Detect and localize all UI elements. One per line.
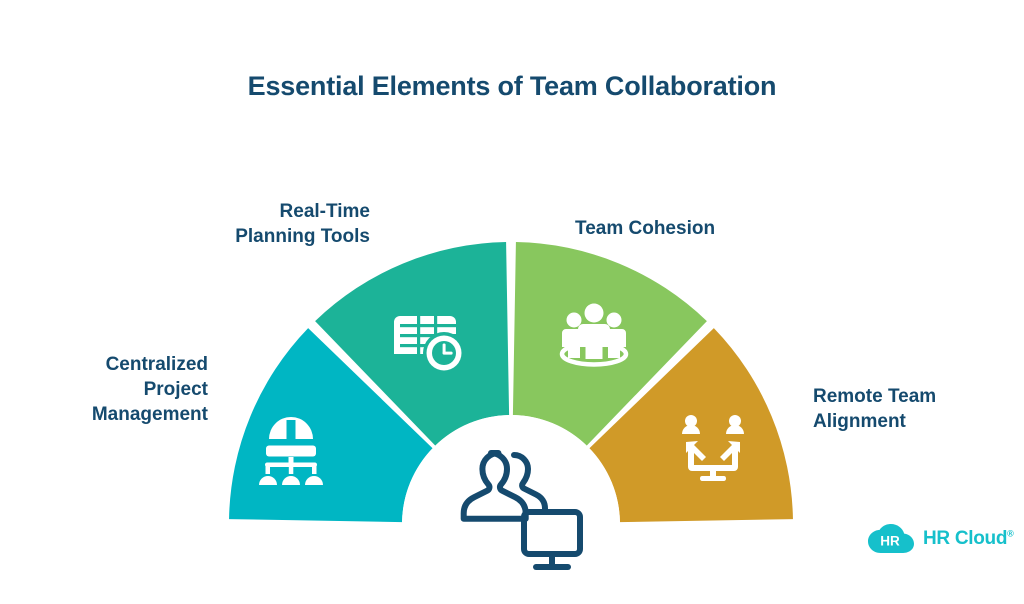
segment-label-team-cohesion: Team Cohesion	[575, 216, 875, 241]
segment-label-real-time-planning-tools: Real-Time Planning Tools	[110, 199, 370, 249]
segment-label-remote-team-alignment: Remote Team Alignment	[813, 384, 1023, 434]
segment-label-centralized-project-management: Centralized Project Management	[0, 352, 208, 427]
hr-cloud-logo[interactable]: HR HR Cloud®	[868, 524, 1013, 554]
hr-cloud-mark-icon: HR	[868, 524, 914, 554]
infographic-canvas: Essential Elements of Team Collaboration	[0, 0, 1024, 604]
semicircle-donut-chart	[0, 0, 1024, 604]
hr-cloud-wordmark: HR Cloud®	[923, 528, 1013, 550]
hr-cloud-mark-text: HR	[880, 534, 900, 549]
hr-cloud-wordmark-text: HR Cloud	[923, 528, 1007, 549]
registered-trademark-icon: ®	[1007, 529, 1013, 539]
